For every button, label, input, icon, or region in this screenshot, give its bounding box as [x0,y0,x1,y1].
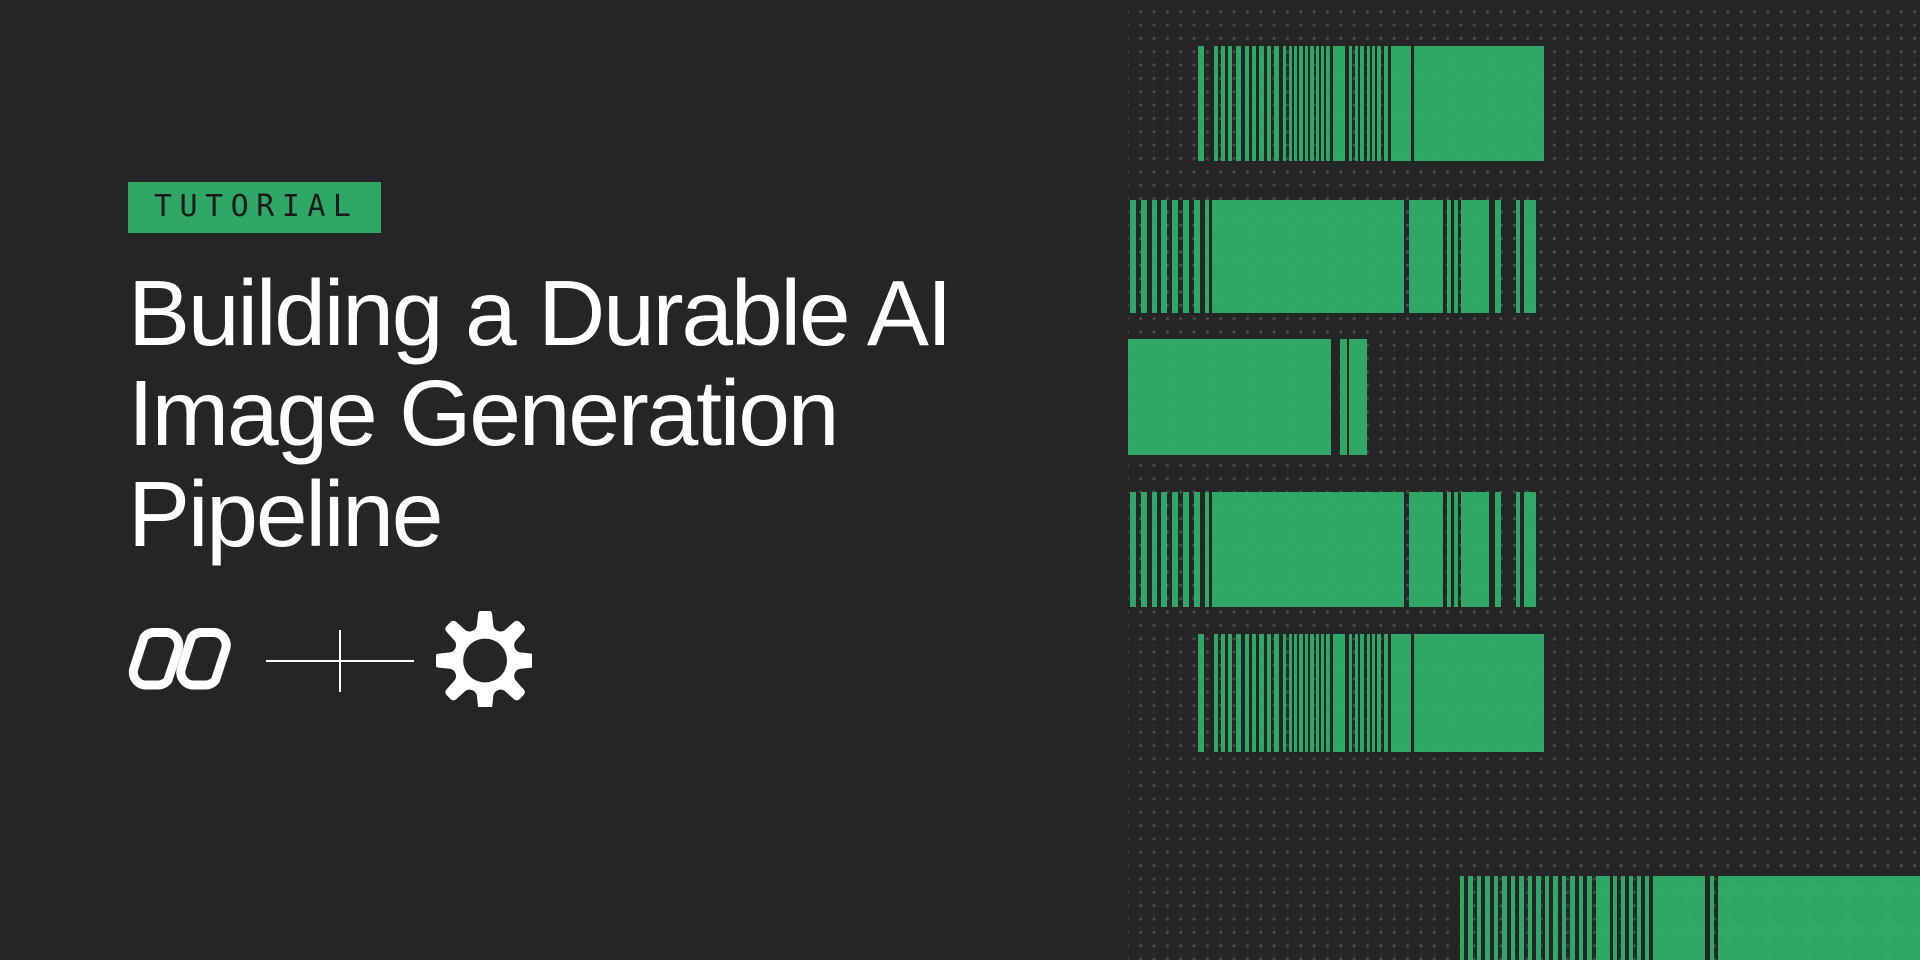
barcode-segment [1205,200,1209,313]
barcode-segment [1183,492,1189,607]
barcode-segment [1172,200,1178,313]
barcode-segment [1355,634,1358,752]
barcode-segment [1141,200,1147,313]
barcode-row [1128,339,1920,455]
plus-connector-icon [266,618,414,704]
barcode-segment [1228,46,1232,161]
barcode-segment [1245,634,1249,752]
barcode-segment [1252,46,1256,161]
barcode-segment [1310,46,1314,161]
barcode-segment [1274,46,1279,161]
barcode-segment [1516,200,1520,313]
barcode-segment [1194,200,1200,313]
barcode-row [1128,200,1920,313]
barcode-segment [1409,200,1443,313]
barcode-segment [1587,876,1592,960]
barcode-segment [1349,634,1352,752]
fal-logo-icon [436,611,532,712]
barcode-segment [1214,46,1218,161]
status-badge: TUTORIAL [128,182,381,233]
barcode-segment [1468,876,1473,960]
barcode-segment [1128,339,1331,455]
barcode-segment [1372,634,1375,752]
barcode-segment [1236,634,1241,752]
barcode-segment [1710,876,1714,960]
barcode-segment [1299,46,1303,161]
barcode-segment [1289,634,1292,752]
barcode-segment [1349,339,1367,455]
barcode-segment [1485,876,1490,960]
barcode-segment [1289,46,1292,161]
decorative-barcode-panel [1128,0,1920,960]
barcode-segment [1130,200,1136,313]
barcode-segment [1333,46,1345,161]
barcode-segment [1333,634,1345,752]
barcode-segment [1372,46,1375,161]
barcode-segment [1718,876,1920,960]
barcode-segment [1245,46,1249,161]
barcode-segment [1198,634,1204,752]
barcode-segment [1536,876,1541,960]
hero-left-panel: TUTORIAL Building a Durable AI Image Gen… [0,0,1128,960]
page-title-line-1: Building a Durable AI [128,263,1068,363]
barcode-segment [1391,634,1411,752]
page-title: Building a Durable AI Image Generation P… [128,263,1068,564]
barcode-segment [1384,634,1388,752]
barcode-segment [1409,492,1443,607]
barcode-segment [1130,492,1136,607]
barcode-segment [1524,492,1536,607]
barcode-segment [1461,492,1489,607]
barcode-segment [1653,876,1705,960]
barcode-segment [1198,46,1204,161]
barcode-segment [1461,200,1489,313]
barcode-segment [1214,634,1218,752]
barcode-segment [1613,876,1617,960]
barcode-segment [1267,46,1271,161]
barcode-segment [1299,634,1303,752]
barcode-segment [1283,46,1286,161]
barcode-segment [1502,876,1507,960]
barcode-segment [1259,634,1264,752]
barcode-segment [1645,876,1649,960]
barcode-segment [1447,200,1451,313]
barcode-row [1128,46,1920,161]
barcode-segment [1477,876,1481,960]
barcode-row [1128,634,1920,752]
barcode-segment [1391,46,1411,161]
barcode-segment [1310,634,1314,752]
barcode-segment [1326,634,1330,752]
barcode-segment [1161,492,1167,607]
barcode-segment [1519,876,1524,960]
barcode-segment [1349,46,1352,161]
barcode-segment [1637,876,1641,960]
barcode-segment [1621,876,1625,960]
barcode-segment [1340,339,1347,455]
barcode-row [1128,876,1920,960]
barcode-segment [1161,200,1167,313]
barcode-segment [1194,492,1200,607]
barcode-segment [1212,200,1404,313]
barcode-segment [1326,46,1330,161]
page-title-line-3: Pipeline [128,464,1068,564]
barcode-segment [1579,876,1583,960]
barcode-segment [1596,876,1610,960]
barcode-segment [1360,46,1364,161]
barcode-segment [1183,200,1189,313]
barcode-segment [1228,634,1232,752]
barcode-segment [1553,876,1558,960]
barcode-segment [1454,200,1458,313]
hero-card: TUTORIAL Building a Durable AI Image Gen… [0,0,1920,960]
barcode-segment [1316,46,1319,161]
barcode-segment [1274,634,1279,752]
barcode-segment [1367,634,1370,752]
logo-row [128,618,1068,704]
barcode-row [1128,492,1920,607]
barcode-segment [1495,492,1501,607]
barcode-segment [1629,876,1633,960]
barcode-segment [1524,200,1536,313]
barcode-segment [1294,634,1297,752]
barcode-segment [1221,46,1225,161]
barcode-segment [1267,634,1271,752]
connector-vertical-bar [339,630,341,692]
barcode-segment [1360,634,1364,752]
barcode-segment [1283,634,1286,752]
barcode-segment [1511,876,1515,960]
barcode-segment [1454,492,1458,607]
barcode-segment [1172,492,1178,607]
barcode-segment [1259,46,1264,161]
barcode-segment [1316,634,1319,752]
barcode-segment [1367,46,1370,161]
barcode-segment [1205,492,1209,607]
barcode-segment [1384,46,1388,161]
barcode-segment [1252,634,1256,752]
barcode-segment [1545,876,1549,960]
barcode-segment [1377,46,1381,161]
barcode-segment [1321,634,1324,752]
barcode-segment [1570,876,1575,960]
barcode-segment [1305,634,1308,752]
barcode-segment [1221,634,1225,752]
barcode-segment [1414,634,1544,752]
page-title-line-2: Image Generation [128,363,1068,463]
barcode-segment [1294,46,1297,161]
barcode-segment [1236,46,1241,161]
barcode-segment [1305,46,1308,161]
hero-content: TUTORIAL Building a Durable AI Image Gen… [128,182,1068,704]
barcode-segment [1377,634,1381,752]
barcode-segment [1516,492,1520,607]
barcode-segment [1414,46,1544,161]
barcode-segment [1447,492,1451,607]
barcode-segment [1152,492,1157,607]
barcode-segment [1460,876,1464,960]
barcode-segment [1494,876,1498,960]
barcode-segment [1141,492,1147,607]
barcode-segment [1528,876,1532,960]
restate-logo-icon [128,616,240,707]
barcode-segment [1212,492,1404,607]
barcode-segment [1152,200,1157,313]
barcode-segment [1562,876,1566,960]
barcode-segment [1355,46,1358,161]
barcode-segment [1495,200,1501,313]
barcode-segment [1321,46,1324,161]
